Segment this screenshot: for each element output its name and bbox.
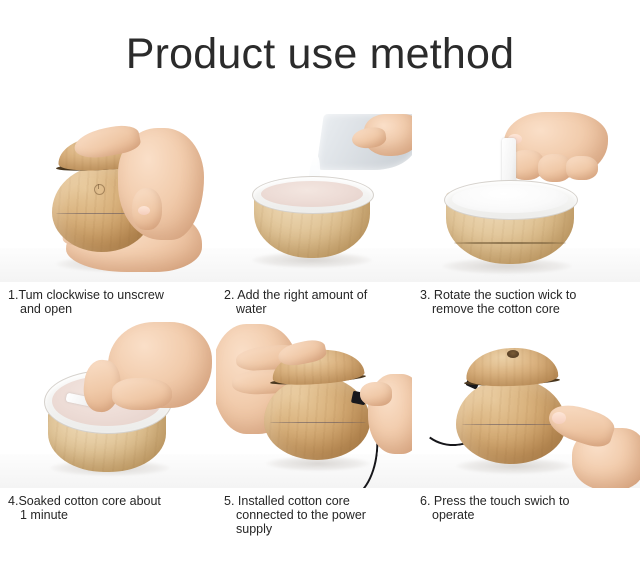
step-4-number: 4. — [8, 494, 18, 508]
step-3-line1: Rotate the suction wick to — [434, 288, 576, 302]
step-5-line1: Installed cotton core — [238, 494, 350, 508]
step-6-caption: 6. Press the touch swich tooperate — [412, 488, 640, 522]
step-2-photo — [216, 110, 412, 282]
step-2-line2: water — [224, 302, 408, 316]
step-3-caption: 3. Rotate the suction wick toremove the … — [412, 282, 640, 316]
step-4-line1: Soaked cotton core about — [18, 494, 160, 508]
step-6-photo — [412, 316, 640, 488]
step-3-number: 3. — [420, 288, 430, 302]
step-cell-2: 2. Add the right amount ofwater — [216, 110, 412, 316]
step-cell-4: 4.Soaked cotton core about1 minute — [0, 316, 216, 536]
mist-outlet — [507, 350, 519, 358]
step-cell-3: 3. Rotate the suction wick toremove the … — [412, 110, 640, 316]
bowl-seam-line — [454, 242, 566, 244]
steps-grid: 1.Tum clockwise to unscrewand open 2. Ad… — [0, 110, 640, 536]
body-seam-line — [462, 424, 560, 425]
step-6-line2: operate — [420, 508, 636, 522]
step-cell-5: 5. Installed cotton coreconnected to the… — [216, 316, 412, 536]
water-surface — [261, 181, 363, 207]
finger-right-thumb — [360, 382, 392, 406]
step-1-photo — [0, 110, 216, 282]
step-6-line1: Press the touch swich to — [434, 494, 569, 508]
step-5-number: 5. — [224, 494, 234, 508]
page-title: Product use method — [0, 28, 640, 80]
step-1-line1: Tum clockwise to unscrew — [18, 288, 163, 302]
step-4-photo — [0, 316, 216, 488]
step-cell-1: 1.Tum clockwise to unscrewand open — [0, 110, 216, 316]
fingernail — [552, 412, 566, 424]
finger-thumb — [112, 378, 172, 410]
power-icon — [94, 184, 105, 195]
step-5-photo — [216, 316, 412, 488]
step-2-caption: 2. Add the right amount ofwater — [216, 282, 412, 316]
step-4-caption: 4.Soaked cotton core about1 minute — [0, 488, 216, 522]
step-2-line1: Add the right amount of — [237, 288, 367, 302]
step-5-caption: 5. Installed cotton coreconnected to the… — [216, 488, 412, 536]
step-cell-6: 6. Press the touch swich tooperate — [412, 316, 640, 536]
step-3-photo — [412, 110, 640, 282]
fingernail-upper — [138, 206, 150, 215]
step-3-line2: remove the cotton core — [420, 302, 636, 316]
finger-ring — [566, 156, 598, 180]
step-2-number: 2. — [224, 288, 234, 302]
step-1-line2: and open — [8, 302, 212, 316]
step-1-caption: 1.Tum clockwise to unscrewand open — [0, 282, 216, 316]
step-4-line2: 1 minute — [8, 508, 212, 522]
step-5-line2: connected to the power — [224, 508, 408, 522]
inner-white-top — [452, 185, 568, 213]
step-1-number: 1. — [8, 288, 18, 302]
step-5-line3: supply — [224, 522, 408, 536]
step-6-number: 6. — [420, 494, 430, 508]
